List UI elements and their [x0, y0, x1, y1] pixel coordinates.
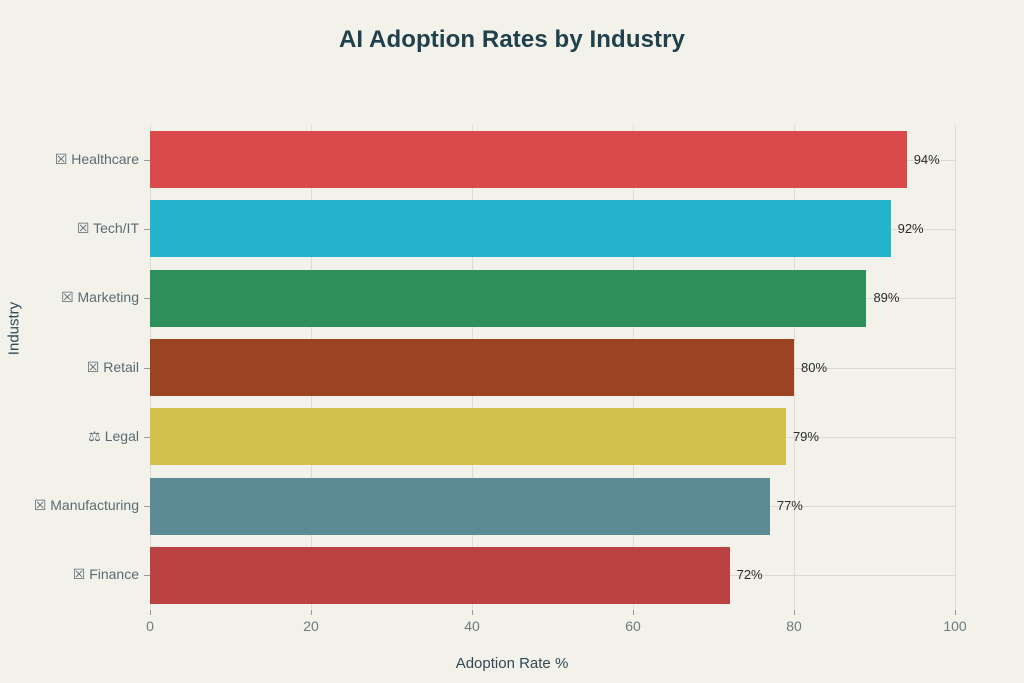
y-tick-label: ☒ Retail: [0, 359, 139, 376]
x-tick-mark: [955, 610, 956, 615]
y-tick-mark: [144, 575, 150, 576]
x-tick-label: 60: [603, 618, 663, 634]
y-tick-mark: [144, 368, 150, 369]
x-tick-mark: [794, 610, 795, 615]
x-tick-mark: [472, 610, 473, 615]
bar-value-label: 77%: [777, 498, 803, 513]
x-axis-title: Adoption Rate %: [0, 655, 1024, 672]
y-tick-mark: [144, 229, 150, 230]
bar-value-label: 89%: [873, 290, 899, 305]
x-tick-mark: [150, 610, 151, 615]
bar-value-label: 92%: [898, 221, 924, 236]
bar-value-label: 80%: [801, 360, 827, 375]
x-tick-label: 100: [925, 618, 985, 634]
y-tick-mark: [144, 506, 150, 507]
x-tick-label: 80: [764, 618, 824, 634]
plot-area: 94%92%89%80%79%77%72%: [150, 125, 955, 610]
bar-value-label: 94%: [914, 152, 940, 167]
bar[interactable]: [150, 547, 730, 604]
y-tick-mark: [144, 160, 150, 161]
x-gridline: [955, 125, 956, 610]
y-tick-label: ⚖ Legal: [0, 428, 139, 445]
y-tick-label: ☒ Tech/IT: [0, 220, 139, 237]
bar[interactable]: [150, 131, 907, 188]
y-tick-label: ☒ Marketing: [0, 289, 139, 306]
y-tick-label: ☒ Finance: [0, 566, 139, 583]
x-tick-mark: [311, 610, 312, 615]
chart-title: AI Adoption Rates by Industry: [0, 26, 1024, 54]
bar-chart: AI Adoption Rates by Industry Industry A…: [0, 0, 1024, 683]
x-tick-mark: [633, 610, 634, 615]
x-tick-label: 20: [281, 618, 341, 634]
bar[interactable]: [150, 200, 891, 257]
y-tick-mark: [144, 298, 150, 299]
y-tick-mark: [144, 437, 150, 438]
bar[interactable]: [150, 408, 786, 465]
bar[interactable]: [150, 478, 770, 535]
bar[interactable]: [150, 270, 866, 327]
bar[interactable]: [150, 339, 794, 396]
x-tick-label: 40: [442, 618, 502, 634]
y-tick-label: ☒ Healthcare: [0, 151, 139, 168]
y-tick-label: ☒ Manufacturing: [0, 497, 139, 514]
x-tick-label: 0: [120, 618, 180, 634]
bar-value-label: 72%: [737, 567, 763, 582]
bar-value-label: 79%: [793, 429, 819, 444]
